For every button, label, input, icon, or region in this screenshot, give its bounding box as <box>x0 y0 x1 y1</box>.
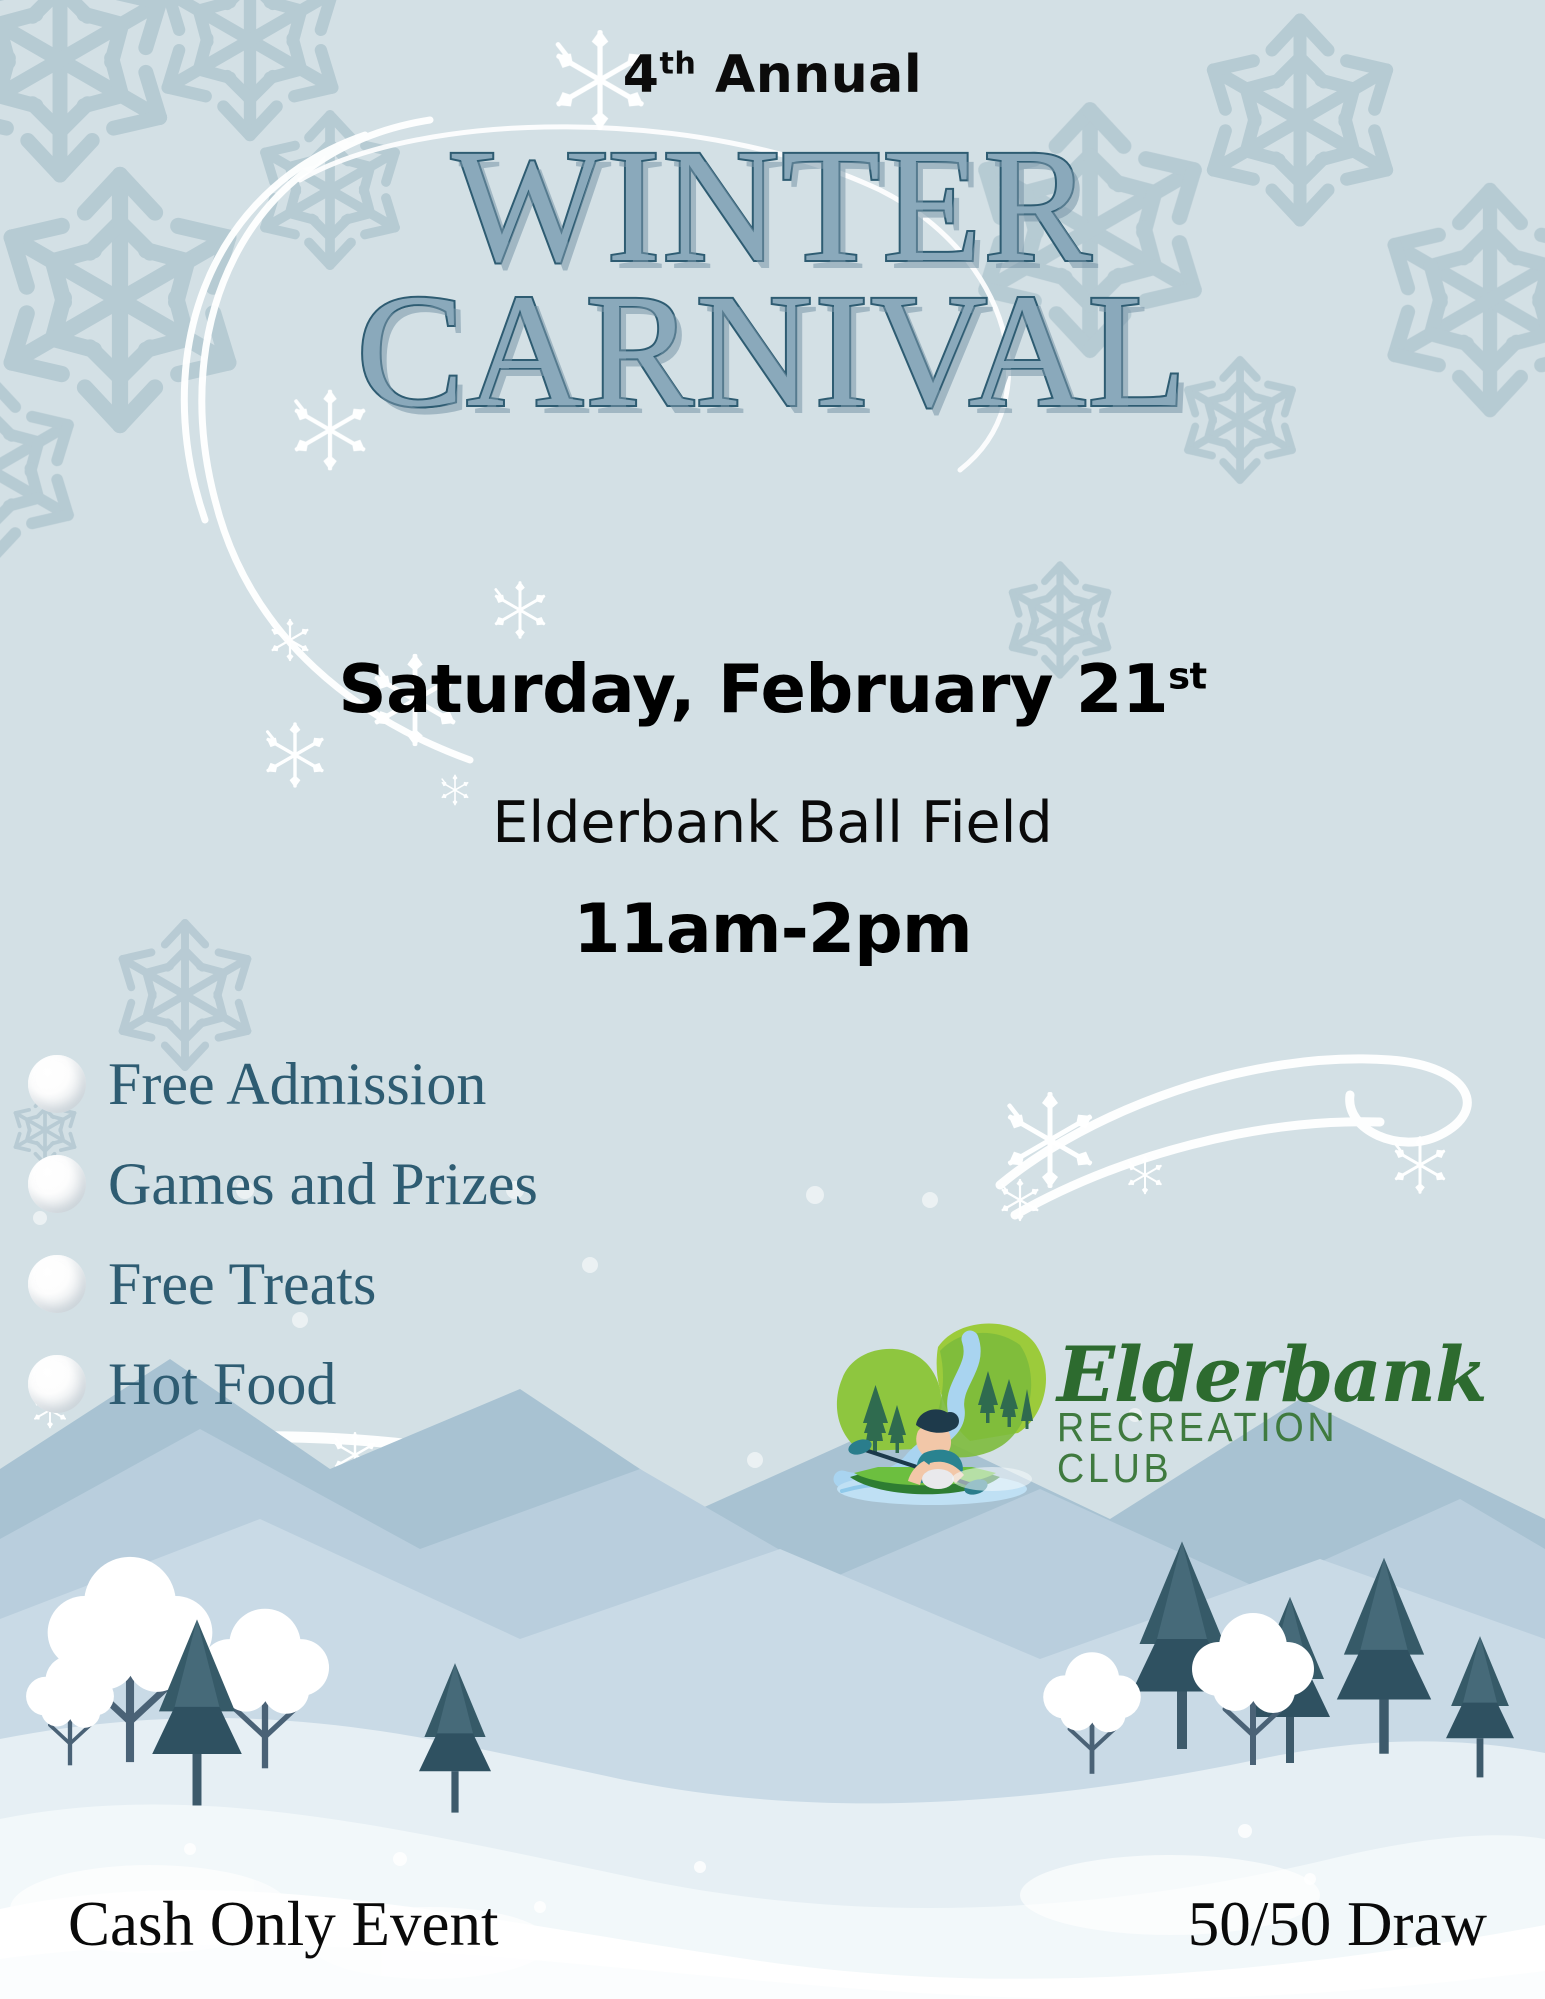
annual-label: 4th Annual <box>0 45 1545 105</box>
snowball-bullet-icon <box>28 1155 86 1213</box>
club-logo: Elderbank RECREATION CLUB <box>820 1318 1420 1508</box>
list-item: Free Treats <box>28 1240 538 1328</box>
event-date-text: Saturday, February 21 <box>338 650 1168 728</box>
feature-label: Games and Prizes <box>108 1150 538 1219</box>
title-line-carnival: CARNIVAL <box>0 273 1545 432</box>
club-subtitle: RECREATION CLUB <box>1057 1407 1452 1489</box>
event-time: 11am-2pm <box>0 890 1545 969</box>
swirl-line-right <box>1000 1059 1467 1215</box>
list-item: Hot Food <box>28 1340 538 1428</box>
snowball-bullet-icon <box>28 1355 86 1413</box>
list-item: Free Admission <box>28 1040 538 1128</box>
annual-number: 4 <box>623 45 660 105</box>
feature-label: Hot Food <box>108 1350 336 1419</box>
feature-label: Free Admission <box>108 1050 486 1119</box>
club-logo-text: Elderbank RECREATION CLUB <box>1057 1337 1487 1489</box>
poster-title: WINTER CARNIVAL <box>0 128 1545 432</box>
event-date-ordinal: st <box>1168 655 1207 698</box>
event-date: Saturday, February 21st <box>0 650 1545 728</box>
feature-label: Free Treats <box>108 1250 376 1319</box>
snowball-bullet-icon <box>28 1255 86 1313</box>
footer-5050-draw: 50/50 Draw <box>1188 1888 1487 1961</box>
event-location: Elderbank Ball Field <box>0 790 1545 856</box>
footer-cash-only: Cash Only Event <box>68 1888 498 1961</box>
club-name-script: Elderbank <box>1057 1337 1487 1413</box>
annual-ordinal: th <box>659 47 696 82</box>
feature-list: Free Admission Games and Prizes Free Tre… <box>28 1040 538 1440</box>
kayaker-river-trees-icon <box>820 1321 1055 1506</box>
list-item: Games and Prizes <box>28 1140 538 1228</box>
snowball-bullet-icon <box>28 1055 86 1113</box>
annual-word: Annual <box>715 45 922 105</box>
winter-carnival-poster: 4th Annual WINTER CARNIVAL Saturday, Feb… <box>0 0 1545 1999</box>
